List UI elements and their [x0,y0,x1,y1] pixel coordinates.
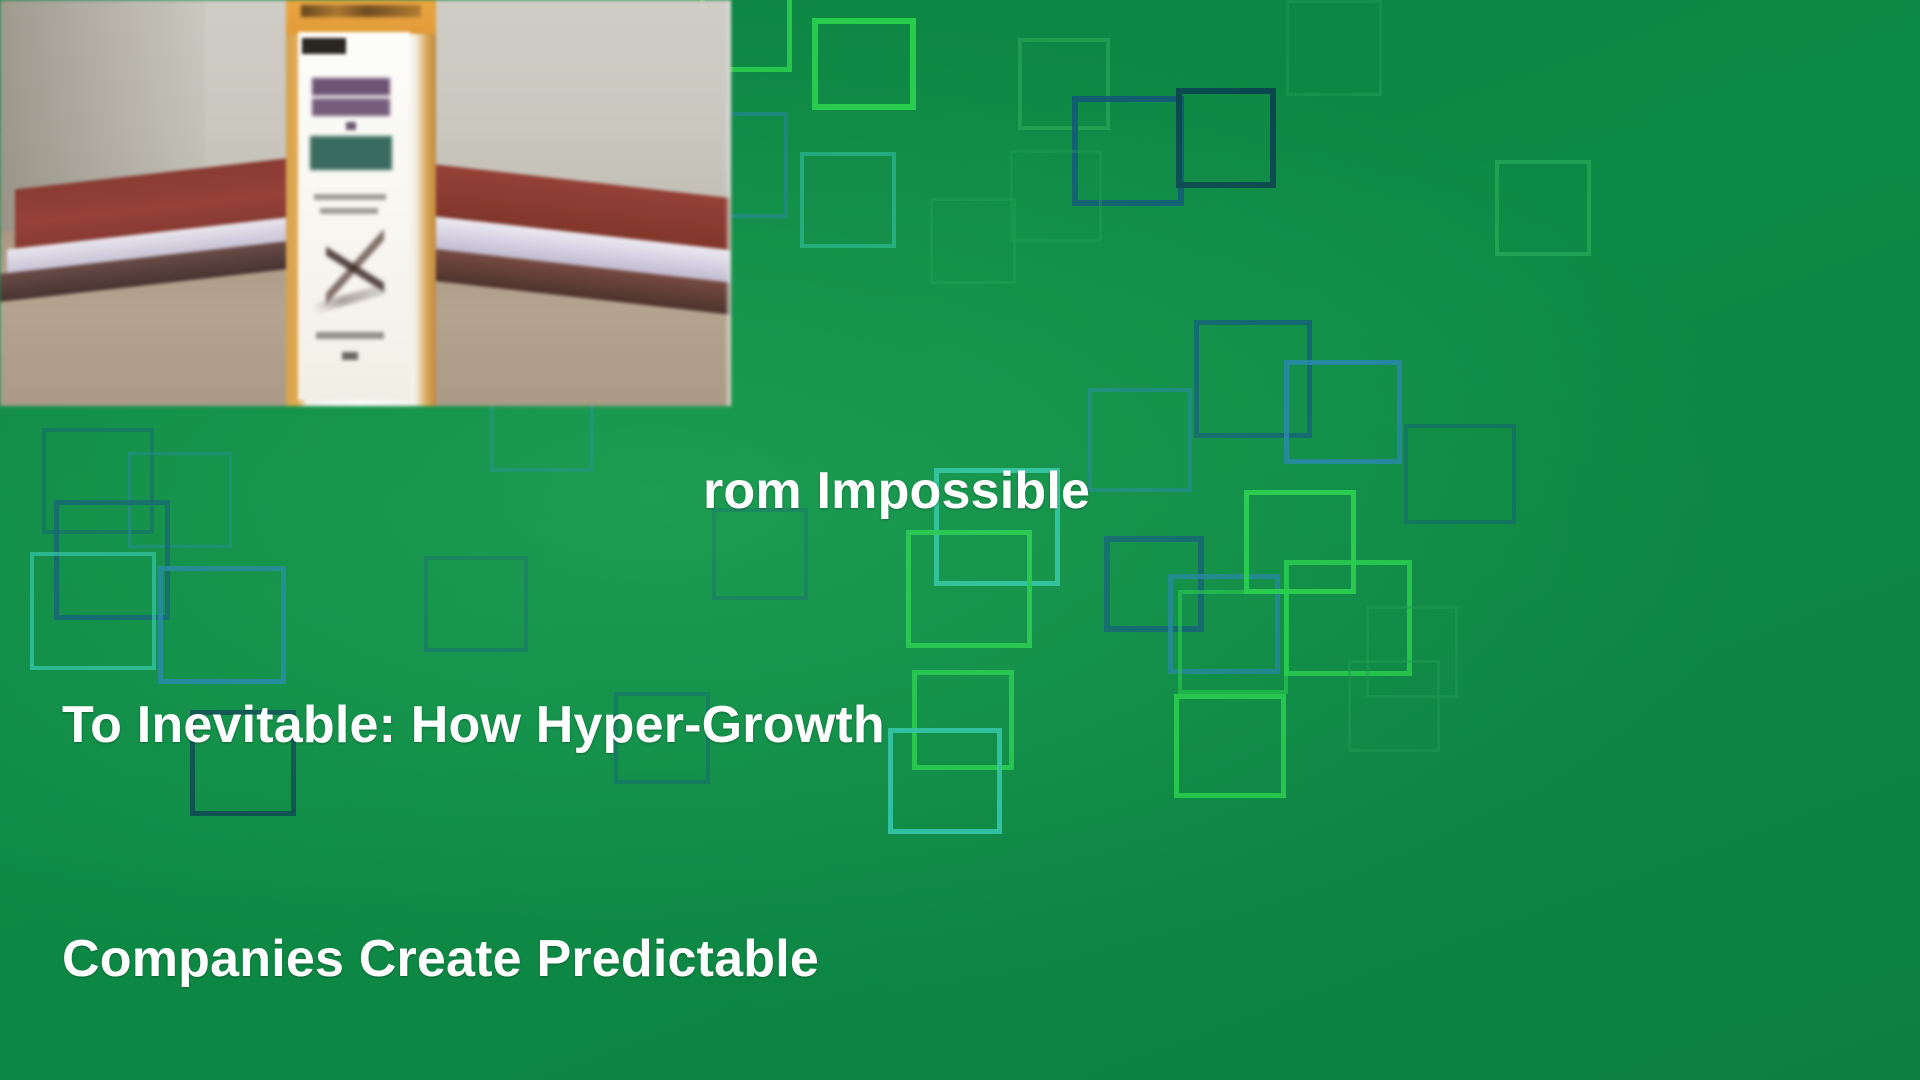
decorative-square [1010,150,1102,242]
decorative-square [930,198,1016,284]
book-cover-ampersand [346,122,356,130]
decorative-square [1404,424,1516,524]
book-cover-subtitle-line2 [320,208,378,214]
book-cover-title-upper [312,78,390,116]
decorative-square [1495,160,1591,256]
book-cover-title-lower [310,136,392,170]
headline-line-1: rom Impossible [0,452,1300,530]
decorative-square [1286,0,1382,96]
headline: rom Impossible To Inevitable: How Hyper-… [0,296,1300,1080]
decorative-square [812,18,916,110]
decorative-square [1284,360,1402,464]
slide-canvas: rom Impossible To Inevitable: How Hyper-… [0,0,1920,1080]
book-spine-orange-band [286,0,436,34]
headline-line-3: Companies Create Predictable [0,920,1300,998]
book-cover-publisher-label [302,38,346,54]
decorative-square [800,152,896,248]
book-spine-band-text [301,5,421,17]
decorative-square [1348,660,1440,752]
headline-line-2: To Inevitable: How Hyper-Growth [0,686,1300,764]
book-cover-subtitle-line1 [314,194,386,200]
decorative-square [1176,88,1276,188]
